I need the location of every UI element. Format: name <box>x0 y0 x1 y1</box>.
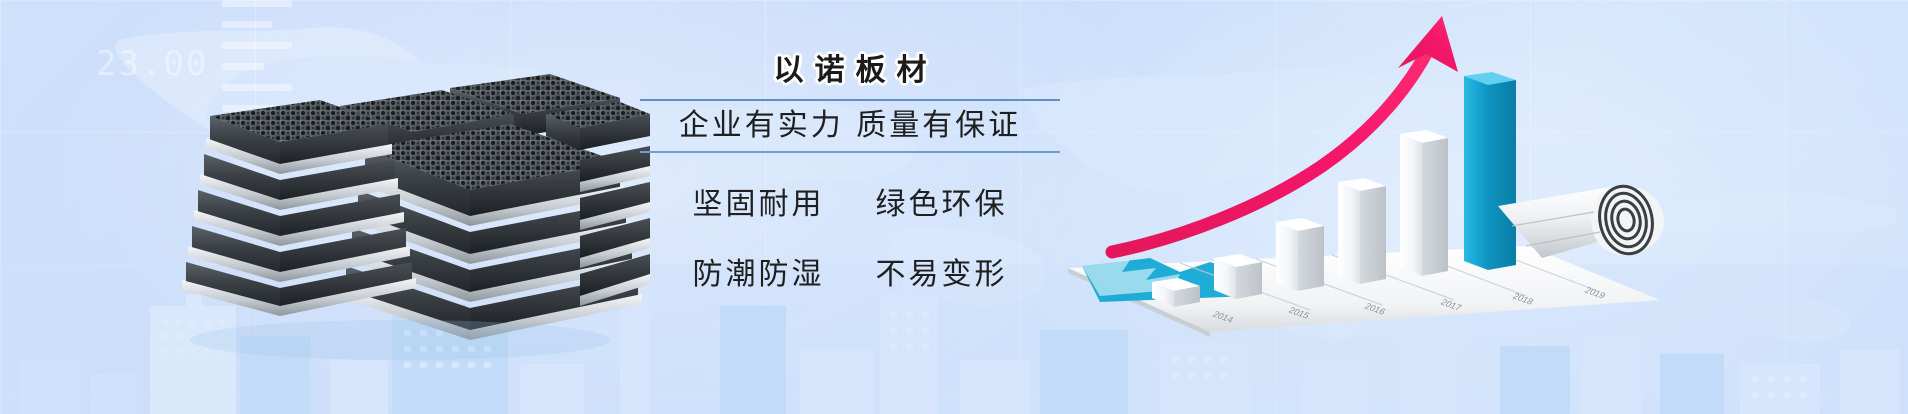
product-image-stacked-blocks <box>150 40 650 360</box>
feature-2-right: 不易变形 <box>876 257 1008 292</box>
feature-row-1: 坚固耐用 绿色环保 <box>640 179 1060 223</box>
feature-1-left: 坚固耐用 <box>692 187 824 222</box>
feature-row-2: 防潮防湿 不易变形 <box>640 249 1060 293</box>
divider-bottom <box>640 151 1060 153</box>
brand-title: 以诺板材 <box>640 52 1060 90</box>
chart-bar-2016 <box>1276 218 1324 291</box>
chart-bar-2019-highlight <box>1464 72 1516 270</box>
chart-bar-2017 <box>1338 178 1386 284</box>
divider-top <box>640 99 1060 101</box>
tagline: 企业有实力 质量有保证 <box>640 109 1060 144</box>
growth-chart-illustration: 2014 2015 2016 2017 2018 2019 <box>1060 10 1680 340</box>
promo-banner: 23.00 <box>0 0 1908 414</box>
chart-bar-2018 <box>1400 130 1448 276</box>
feature-2-left: 防潮防湿 <box>692 257 824 292</box>
chart-bar-2015 <box>1214 254 1262 299</box>
copy-block: 以诺板材 企业有实力 质量有保证 坚固耐用 绿色环保 防潮防湿 不易变形 <box>640 52 1060 319</box>
feature-1-right: 绿色环保 <box>876 187 1008 222</box>
